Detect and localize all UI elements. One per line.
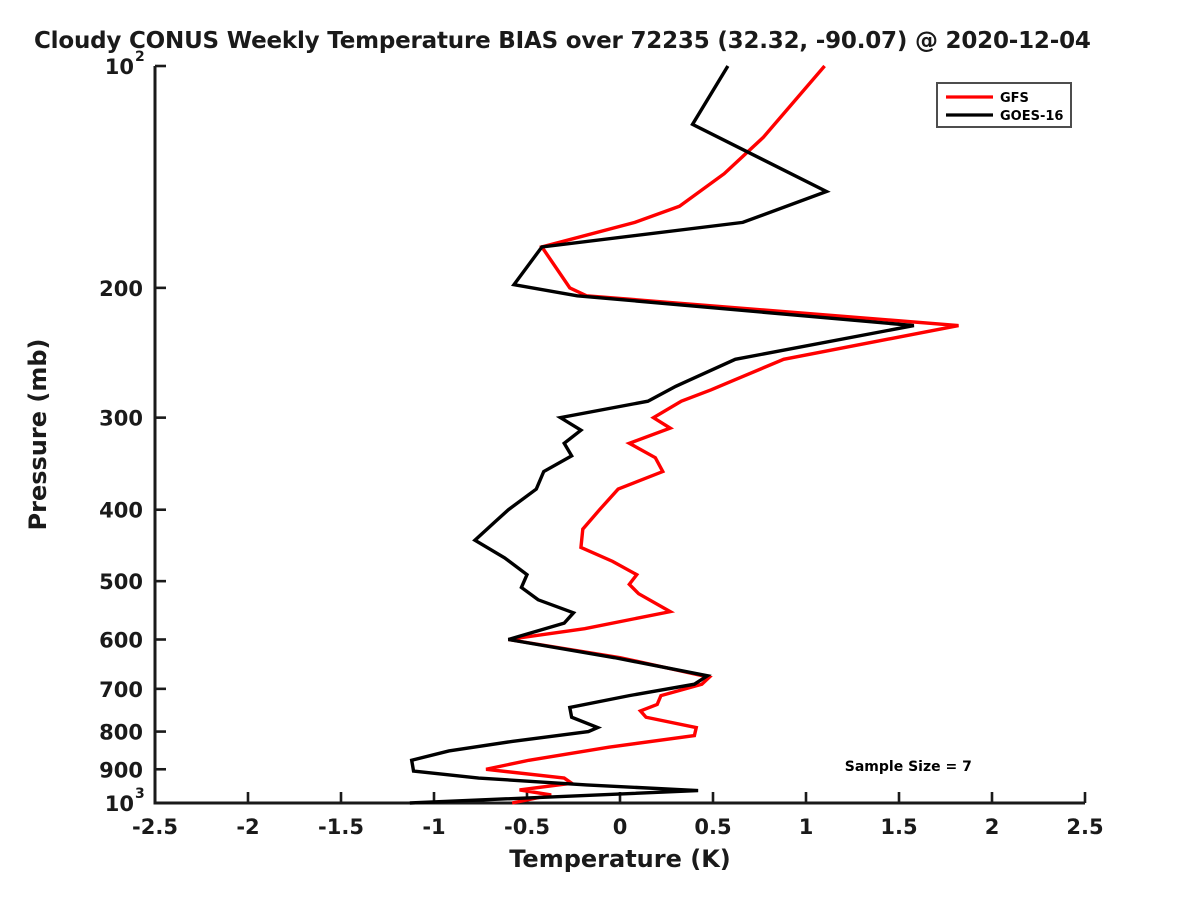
y-tick-label: 700: [99, 678, 143, 702]
y-tick-label: 300: [99, 407, 143, 431]
y-tick-label: 900: [99, 758, 143, 782]
y-axis-title: Pressure (mb): [24, 339, 52, 531]
y-tick-label-exponent: 3: [135, 786, 145, 802]
legend-label-goes-16: GOES-16: [1000, 109, 1063, 124]
y-tick-label-exponent: 2: [135, 49, 145, 65]
temperature-bias-profile-chart: -2.5-2-1.5-1-0.500.511.522.5102200300400…: [0, 0, 1200, 900]
x-tick-label: 1: [799, 815, 814, 839]
x-tick-label: -2.5: [132, 815, 178, 839]
x-tick-label: 0.5: [694, 815, 731, 839]
x-tick-label: -1: [422, 815, 445, 839]
x-tick-label: 2: [985, 815, 1000, 839]
y-tick-label: 600: [99, 628, 143, 652]
y-tick-label: 10: [105, 55, 134, 79]
x-tick-label: 0: [613, 815, 628, 839]
y-tick-label: 800: [99, 721, 143, 745]
x-tick-label: -1.5: [318, 815, 364, 839]
axes-spines: [155, 66, 1085, 803]
y-tick-label: 200: [99, 277, 143, 301]
y-tick-label: 400: [99, 499, 143, 523]
sample-size-annotation: Sample Size = 7: [845, 759, 972, 775]
y-tick-label: 500: [99, 570, 143, 594]
chart-figure: Cloudy CONUS Weekly Temperature BIAS ove…: [0, 0, 1200, 900]
x-tick-label: -0.5: [504, 815, 550, 839]
series-line-goes-16: [410, 66, 914, 803]
x-axis-title: Temperature (K): [509, 845, 731, 873]
series-line-gfs: [486, 66, 958, 803]
x-tick-label: -2: [236, 815, 259, 839]
x-tick-label: 1.5: [880, 815, 917, 839]
x-tick-label: 2.5: [1066, 815, 1103, 839]
legend-label-gfs: GFS: [1000, 91, 1029, 106]
y-tick-label: 10: [105, 792, 134, 816]
